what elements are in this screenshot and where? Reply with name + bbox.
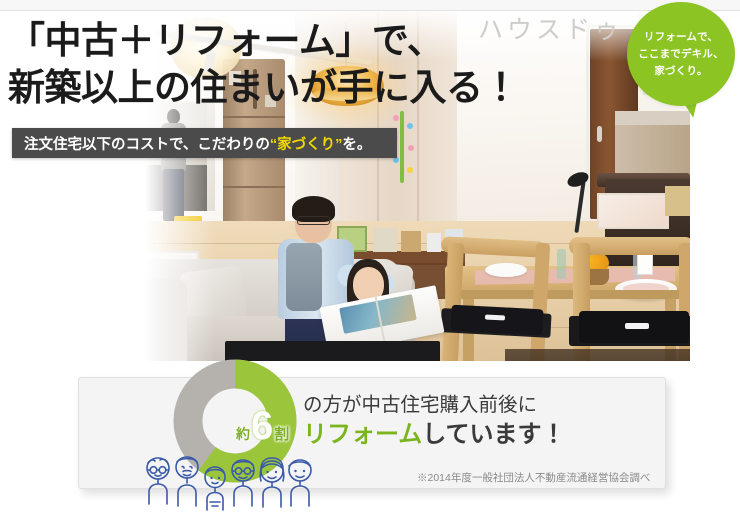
headline-line-1: 「中古＋リフォーム」で、 — [8, 20, 443, 61]
photo-chair-tag — [485, 314, 505, 320]
headline-line-2: 新築以上の住まいが手に入る！ — [8, 65, 478, 112]
stat-text-line-1: の方が中古住宅購入前後に — [303, 391, 566, 419]
brand-company-name: ハウスドゥ — [478, 10, 623, 46]
bubble-line-1: リフォームで、 — [644, 29, 718, 46]
subtitle-banner: 注文住宅以下のコストで、こだわりの “家づくり” を。 — [12, 128, 397, 158]
subtitle-highlight: “家づくり” — [270, 133, 343, 154]
donut-value-label: 約 6 割 — [236, 406, 289, 446]
stat-card-text: の方が中古住宅購入前後に リフォームしています！ — [303, 391, 566, 452]
photo-right-counter — [615, 111, 690, 125]
photo-bottle — [557, 249, 566, 279]
bubble-line-3: 家づくり。 — [654, 63, 707, 80]
photo-framed-picture-2 — [665, 186, 690, 216]
page-title: 「中古＋リフォーム」で、 新築以上の住まいが手に入る！ — [8, 18, 478, 111]
speech-bubble: リフォームで、 ここまでデキル、 家づくり。 — [627, 2, 735, 106]
photo-table-edge — [445, 290, 690, 299]
photo-dark-rug — [505, 349, 690, 361]
source-note: ※2014年度一般社団法人不動産流通経営協会調べ — [417, 470, 650, 485]
photo-father-glasses — [297, 216, 330, 225]
donut-label-number: 6 — [251, 406, 273, 446]
family-figure-grandfather — [176, 457, 198, 506]
photo-plate — [485, 263, 527, 277]
photo-father-vest — [286, 243, 322, 311]
family-illustration — [137, 452, 327, 518]
subtitle-before: 注文住宅以下のコストで、こだわりの — [24, 133, 270, 154]
family-figure-grandmother — [147, 458, 169, 504]
photo-shelf-object-4 — [427, 233, 441, 252]
bubble-line-2: ここまでデキル、 — [638, 46, 724, 63]
family-figure-child — [205, 467, 225, 510]
donut-label-prefix: 約 — [236, 424, 250, 444]
stat-text-green: リフォーム — [303, 421, 422, 448]
photo-door-handle — [597, 126, 602, 142]
stat-text-line-2: リフォームしています！ — [303, 419, 566, 451]
stat-text-rest: しています！ — [422, 421, 565, 448]
photo-framed-picture — [597, 193, 669, 229]
photo-chair2-tag — [625, 323, 649, 329]
family-figure-father — [232, 460, 254, 506]
photo-fridge-line-3 — [223, 186, 285, 188]
photo-shelf-object-2 — [373, 228, 397, 252]
donut-label-suffix: 割 — [274, 423, 289, 444]
subtitle-after: を。 — [342, 133, 371, 154]
photo-fridge-line — [223, 116, 285, 118]
photo-shelf-object-3 — [401, 231, 421, 252]
photo-wall-sticker-tree — [400, 111, 404, 183]
family-figure-mother — [260, 458, 284, 507]
family-figure-young-man — [289, 460, 311, 506]
top-strip — [0, 0, 740, 11]
